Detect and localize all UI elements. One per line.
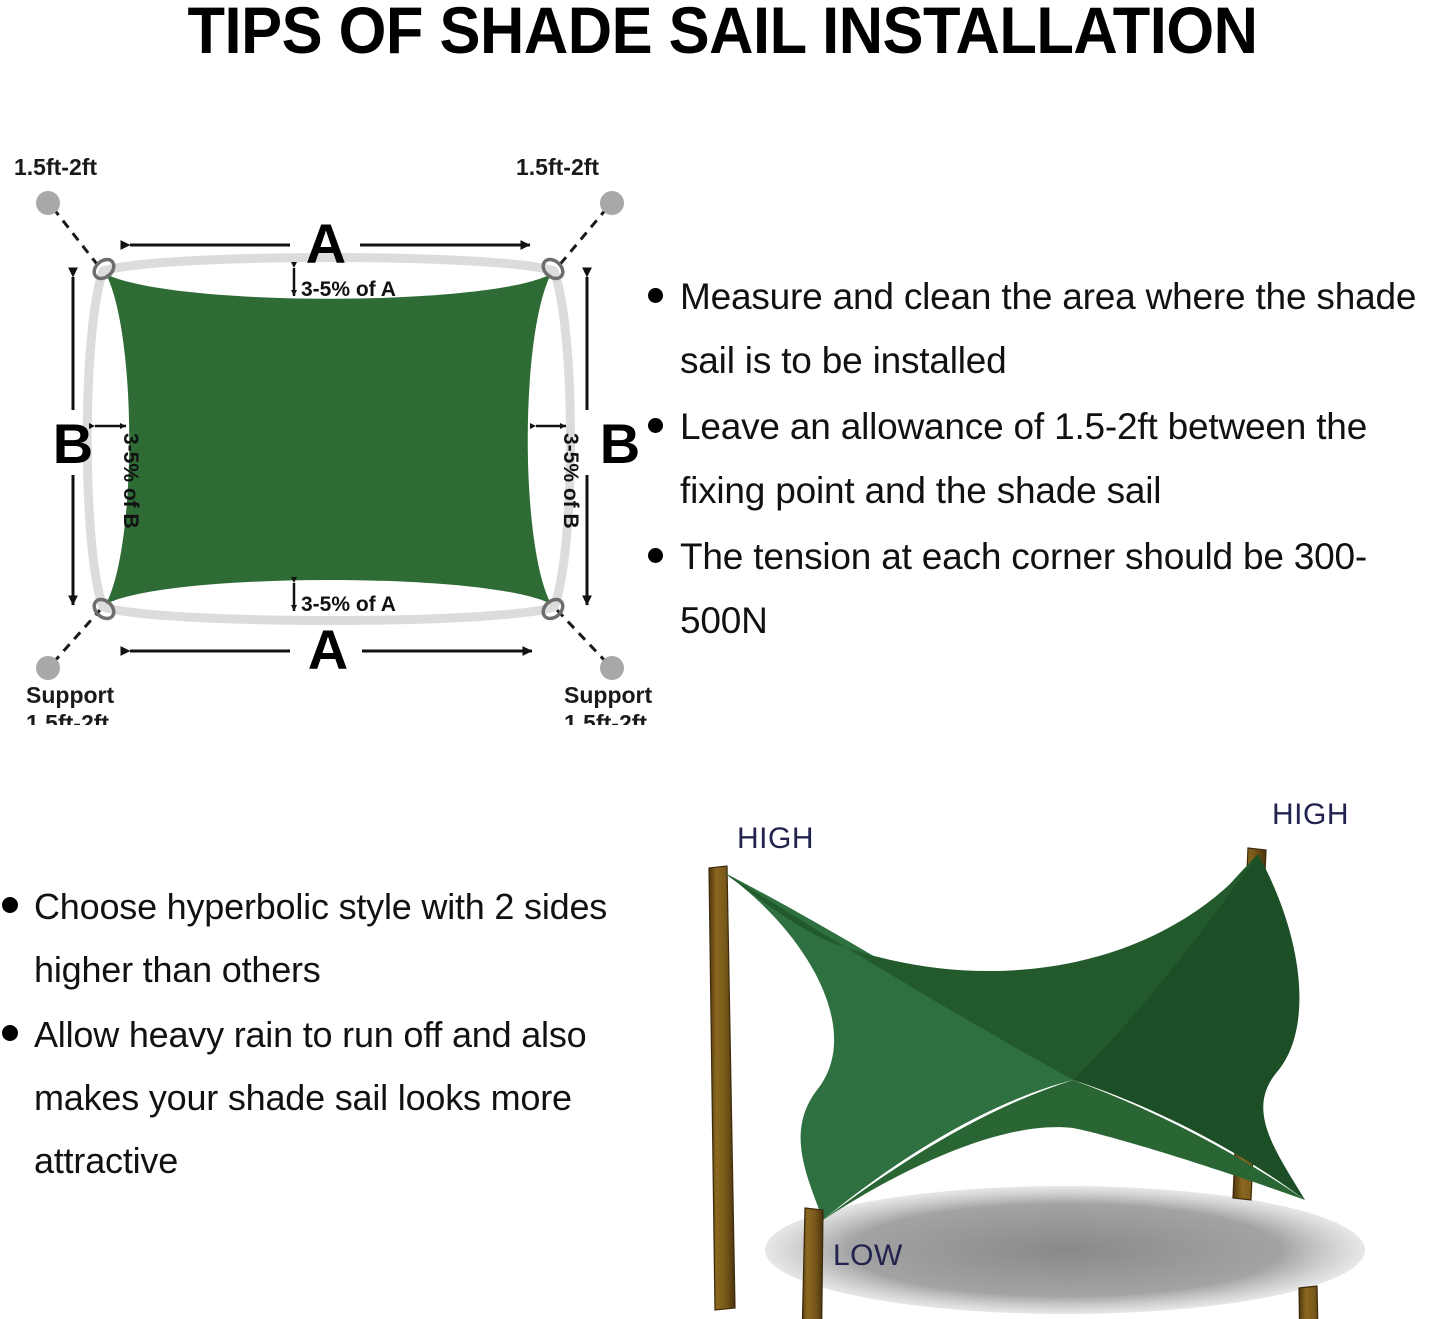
tip-text: Measure and clean the area where the sha… — [680, 276, 1416, 381]
post-far-left — [709, 866, 735, 1310]
page-title: TIPS OF SHADE SAIL INSTALLATION — [51, 0, 1395, 64]
list-item: Leave an allowance of 1.5-2ft between th… — [640, 395, 1445, 523]
support-line-bottom-left — [53, 610, 100, 663]
dimension-top-A: A — [130, 212, 530, 275]
post-far-right — [1299, 1286, 1323, 1319]
dimension-right-B: B — [587, 277, 640, 605]
rectangle-sail-diagram: A 3-5% of A 3-5% of A A B — [0, 155, 660, 725]
support-line-top-left — [53, 208, 100, 268]
support-dot-top-left — [36, 191, 60, 215]
curve-annotation-left: 3-5% of B — [95, 426, 142, 529]
corner-label-low-left: LOW — [833, 1239, 903, 1272]
curve-label-left: 3-5% of B — [119, 433, 142, 529]
curve-label-right: 3-5% of B — [559, 433, 582, 529]
tips-bullet-list: Measure and clean the area where the sha… — [640, 265, 1445, 653]
dimension-label-right-B: B — [600, 412, 640, 475]
curve-annotation-right: 3-5% of B — [536, 426, 582, 529]
corner-label-high-left: HIGH — [737, 822, 814, 855]
hyperbolic-sail-figure: HIGH HIGH LOW LOW — [665, 780, 1445, 1319]
corner-label-high-right: HIGH — [1272, 798, 1349, 831]
corner-label-low-right: LOW — [1210, 1314, 1280, 1319]
tip-text: The tension at each corner should be 300… — [680, 536, 1367, 641]
support-dot-bottom-right — [600, 656, 624, 680]
dimension-left-B: B — [53, 277, 93, 605]
tip-text: Allow heavy rain to run off and also mak… — [34, 1014, 586, 1181]
dimension-label-top-A: A — [306, 212, 346, 275]
tip-text: Leave an allowance of 1.5-2ft between th… — [680, 406, 1367, 511]
curve-label-bottom: 3-5% of A — [301, 593, 396, 616]
tip-text: Choose hyperbolic style with 2 sides hig… — [34, 886, 607, 990]
support-dot-top-right — [600, 191, 624, 215]
installation-tips-list: Measure and clean the area where the sha… — [640, 265, 1445, 665]
dimension-label-bottom-A: A — [308, 618, 348, 681]
hyperbolic-bullet-list: Choose hyperbolic style with 2 sides hig… — [0, 875, 630, 1192]
list-item: Allow heavy rain to run off and also mak… — [0, 1003, 630, 1192]
support-dot-bottom-left — [36, 656, 60, 680]
list-item: Measure and clean the area where the sha… — [640, 265, 1445, 393]
support-line-bottom-right — [557, 610, 607, 663]
support-label-bottom-right: Support 1.5ft-2ft — [564, 682, 652, 725]
svg-text:Support: Support — [26, 682, 114, 708]
support-label-top-right: Support 1.5ft-2ft — [516, 155, 604, 180]
svg-text:1.5ft-2ft: 1.5ft-2ft — [14, 155, 97, 180]
hyperbolic-tips-list: Choose hyperbolic style with 2 sides hig… — [0, 875, 630, 1215]
support-label-bottom-left: Support 1.5ft-2ft — [26, 682, 114, 725]
list-item: Choose hyperbolic style with 2 sides hig… — [0, 875, 630, 1001]
dimension-bottom-A: A — [130, 618, 532, 681]
shade-sail-body — [106, 274, 551, 604]
dimension-label-left-B: B — [53, 412, 93, 475]
svg-text:Support: Support — [564, 682, 652, 708]
support-line-top-right — [557, 208, 607, 268]
svg-text:1.5ft-2ft: 1.5ft-2ft — [26, 710, 109, 725]
infographic-page: TIPS OF SHADE SAIL INSTALLATION — [0, 0, 1445, 1319]
list-item: The tension at each corner should be 300… — [640, 525, 1445, 653]
post-left-center — [801, 1208, 823, 1319]
svg-text:1.5ft-2ft: 1.5ft-2ft — [516, 155, 599, 180]
svg-text:1.5ft-2ft: 1.5ft-2ft — [564, 710, 647, 725]
curve-annotation-bottom: 3-5% of A — [294, 583, 396, 616]
support-label-top-left: Support 1.5ft-2ft — [14, 155, 102, 180]
curve-label-top: 3-5% of A — [301, 278, 396, 301]
